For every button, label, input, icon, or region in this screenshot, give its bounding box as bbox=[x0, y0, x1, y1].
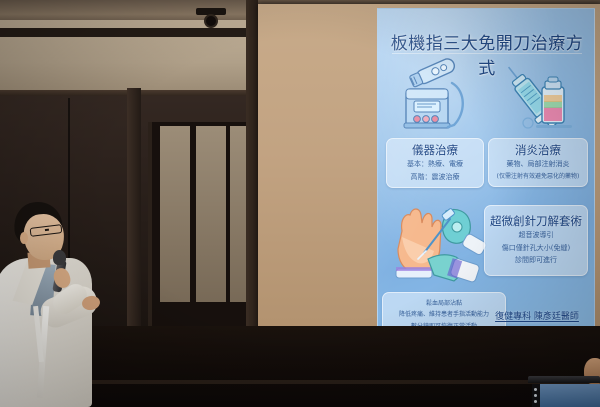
card-heading: 消炎治療 bbox=[492, 143, 584, 157]
card-heading: 超微創針刀解套術 bbox=[488, 214, 584, 228]
card-line: 鬆血局部沾黏 bbox=[385, 299, 503, 308]
presenter-laptop bbox=[528, 376, 600, 407]
ceiling-projector-icon bbox=[196, 8, 226, 30]
speaker-person bbox=[0, 196, 136, 407]
door-frame bbox=[148, 122, 254, 328]
syringe-vial-icon bbox=[492, 57, 578, 135]
card-heading: 儀器治療 bbox=[390, 143, 480, 157]
card-line: 藥物、局部注射消炎 bbox=[492, 159, 584, 170]
card-line: 高階：震波治療 bbox=[390, 172, 480, 183]
indicator-dot bbox=[534, 400, 537, 403]
laptop-lid bbox=[528, 376, 600, 383]
card-micro-needle-knife: 超微創針刀解套術 超音波導引 傷口僅針孔大小(免縫) 診間即可進行 bbox=[484, 205, 588, 276]
title-underline bbox=[392, 53, 582, 54]
card-anti-inflammatory: 消炎治療 藥物、局部注射消炎 (仅需注射有效避免惡化的藥物) bbox=[488, 138, 588, 187]
card-line: 診間即可進行 bbox=[488, 255, 584, 266]
projector-lens bbox=[204, 14, 218, 28]
card-line: 基本：熱療、電療 bbox=[390, 159, 480, 170]
presenter-signature: 復健專科 陳彥廷醫師 bbox=[482, 309, 592, 322]
door-glass-panel bbox=[196, 126, 226, 302]
presentation-slide: 板機指三大免開刀治療方式 bbox=[377, 8, 595, 330]
lecture-room-photo: 板機指三大免開刀治療方式 bbox=[0, 0, 600, 407]
laptop-indicator-lights bbox=[534, 388, 537, 406]
indicator-dot bbox=[534, 388, 537, 391]
laptop-screen bbox=[540, 384, 600, 407]
indicator-dot bbox=[534, 394, 537, 397]
microphone-head-icon bbox=[53, 250, 66, 265]
card-device-therapy: 儀器治療 基本：熱療、電療 高階：震波治療 bbox=[386, 138, 484, 188]
door-glass-panel bbox=[160, 126, 190, 302]
card-line: 傷口僅針孔大小(免縫) bbox=[488, 243, 584, 254]
ear bbox=[20, 232, 28, 244]
shockwave-device-icon bbox=[390, 57, 476, 135]
card-line: (仅需注射有效避免惡化的藥物) bbox=[492, 172, 584, 181]
hand-injection-icon bbox=[384, 197, 488, 283]
card-line: 超音波導引 bbox=[488, 230, 584, 241]
